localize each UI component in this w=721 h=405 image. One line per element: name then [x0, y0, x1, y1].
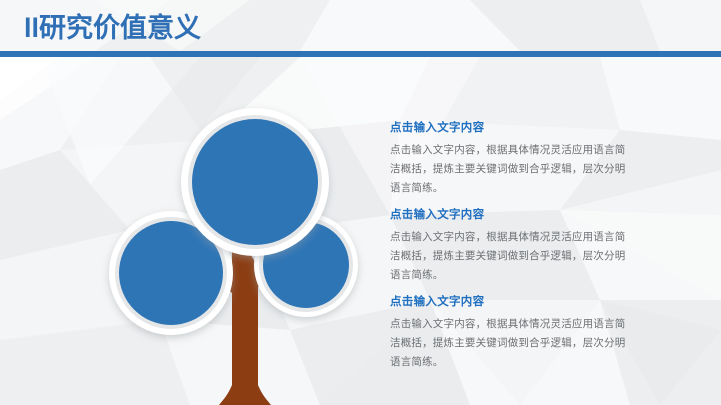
trunk-root-right	[258, 385, 271, 405]
content-block-3: 点击输入文字内容 点击输入文字内容，根据具体情况灵活应用语言简洁概括，提炼主要关…	[390, 294, 690, 372]
trunk-root-left	[219, 385, 232, 405]
content-block-2-heading: 点击输入文字内容	[390, 207, 690, 223]
header-divider-bar	[0, 51, 721, 57]
content-block-1-body: 点击输入文字内容，根据具体情况灵活应用语言简洁概括，提炼主要关键词做到合乎逻辑，…	[390, 141, 632, 198]
content-block-1: 点击输入文字内容 点击输入文字内容，根据具体情况灵活应用语言简洁概括，提炼主要关…	[390, 120, 690, 198]
content-block-1-heading: 点击输入文字内容	[390, 120, 690, 136]
tree-illustration	[95, 95, 375, 405]
content-block-2: 点击输入文字内容 点击输入文字内容，根据具体情况灵活应用语言简洁概括，提炼主要关…	[390, 207, 690, 285]
page-title: ll研究价值意义	[24, 11, 201, 45]
foliage-circle-top	[181, 108, 329, 256]
content-block-3-heading: 点击输入文字内容	[390, 294, 690, 310]
slide-canvas: ll研究价值意义	[0, 0, 721, 405]
content-block-3-body: 点击输入文字内容，根据具体情况灵活应用语言简洁概括，提炼主要关键词做到合乎逻辑，…	[390, 315, 632, 372]
content-block-2-body: 点击输入文字内容，根据具体情况灵活应用语言简洁概括，提炼主要关键词做到合乎逻辑，…	[390, 228, 632, 285]
